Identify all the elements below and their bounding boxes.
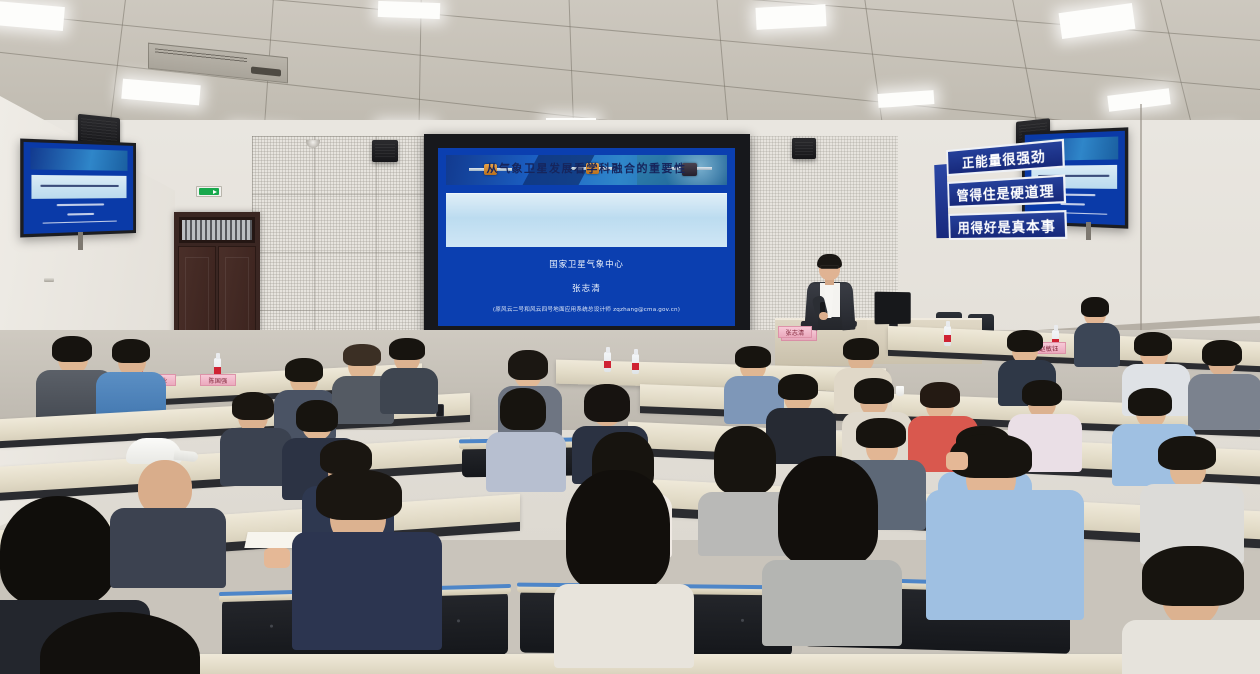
tv-slide-title-box bbox=[32, 175, 126, 199]
hair bbox=[1128, 388, 1172, 416]
banner-line-2: 管得住是硬道理 bbox=[947, 174, 1066, 208]
hair bbox=[856, 418, 906, 448]
torso bbox=[486, 432, 566, 492]
projection-screen: 从气象卫星发展看学科融合的重要性 国家卫星气象中心 张志清 (原风云二号和风云四… bbox=[424, 134, 750, 349]
slide-presenter-name: 张志清 bbox=[438, 282, 735, 294]
hair bbox=[1142, 546, 1244, 606]
hair bbox=[778, 456, 878, 566]
hair bbox=[714, 426, 776, 494]
ceiling-light bbox=[378, 1, 441, 19]
torso bbox=[926, 490, 1084, 620]
hair bbox=[52, 336, 92, 362]
hair bbox=[232, 392, 274, 420]
water-bottle[interactable] bbox=[632, 354, 639, 374]
hair bbox=[1158, 436, 1216, 470]
tv-left-screen bbox=[24, 142, 134, 234]
hair bbox=[320, 440, 372, 474]
desk-nameplate: 陈国强 bbox=[200, 374, 236, 386]
lecture-hall-photo: 正能量很强劲 管得住是硬道理 用得好是真本事 bbox=[0, 0, 1260, 674]
wall-tv-left[interactable] bbox=[20, 138, 136, 237]
hair bbox=[920, 382, 960, 408]
banner-line-1-text: 正能量很强劲 bbox=[962, 144, 1046, 171]
running-man-exit-icon bbox=[199, 188, 219, 195]
exit-sign bbox=[196, 186, 222, 197]
paper-cup[interactable] bbox=[896, 386, 904, 396]
hair bbox=[1081, 297, 1109, 317]
presenter-hand bbox=[819, 312, 828, 320]
desk-nameplate: 张志清 bbox=[778, 326, 812, 338]
torso bbox=[554, 584, 694, 668]
hair bbox=[1134, 332, 1172, 356]
hair bbox=[112, 339, 150, 363]
door-handle[interactable] bbox=[44, 278, 54, 282]
hair bbox=[1202, 340, 1242, 366]
hair bbox=[1022, 380, 1062, 406]
hair bbox=[0, 496, 116, 606]
torso bbox=[380, 368, 438, 414]
hair bbox=[1007, 330, 1043, 352]
banner-line-3: 用得好是真本事 bbox=[948, 210, 1067, 240]
hair bbox=[296, 400, 338, 432]
glasses-icon bbox=[820, 265, 839, 269]
hair bbox=[778, 374, 818, 400]
slide-credentials: (原风云二号和风云四号地面应用系统总设计师 zqzhang@cma.gov.cn… bbox=[438, 305, 735, 313]
wall-slogan-banner: 正能量很强劲 管得住是硬道理 用得好是真本事 bbox=[946, 139, 1068, 271]
torso bbox=[762, 560, 902, 646]
transom-grille bbox=[182, 220, 252, 240]
torso bbox=[292, 532, 442, 650]
torso bbox=[110, 508, 226, 588]
hand bbox=[946, 452, 968, 470]
hair bbox=[316, 470, 402, 520]
stage-monitor[interactable] bbox=[875, 292, 911, 325]
hair bbox=[566, 470, 670, 590]
hair bbox=[843, 338, 879, 360]
nameplate-text: 陈国强 bbox=[209, 376, 228, 385]
banner-line-3-text: 用得好是真本事 bbox=[957, 214, 1056, 236]
torso bbox=[1122, 620, 1260, 674]
hair bbox=[285, 358, 323, 382]
wall-speaker bbox=[792, 138, 816, 159]
hair bbox=[508, 350, 548, 380]
door-transom bbox=[179, 217, 255, 243]
water-bottle[interactable] bbox=[604, 352, 611, 372]
presenter bbox=[800, 256, 860, 334]
nameplate-text: 张志清 bbox=[786, 328, 805, 337]
tv-mount-bracket bbox=[78, 232, 83, 250]
hair bbox=[735, 346, 771, 368]
banner-line-2-text: 管得住是硬道理 bbox=[956, 179, 1055, 204]
presentation-slide: 从气象卫星发展看学科融合的重要性 国家卫星气象中心 张志清 (原风云二号和风云四… bbox=[438, 148, 735, 326]
slide-organization: 国家卫星气象中心 bbox=[438, 258, 735, 270]
ceiling-light bbox=[755, 4, 826, 30]
hand bbox=[264, 548, 290, 568]
water-bottle[interactable] bbox=[944, 326, 951, 346]
slide-title-box bbox=[446, 193, 727, 247]
torso bbox=[1188, 374, 1260, 430]
slide-title: 从气象卫星发展看学科融合的重要性 bbox=[438, 160, 735, 176]
hair bbox=[584, 384, 630, 422]
wall-speaker bbox=[372, 140, 398, 162]
tv-mount-bracket bbox=[1086, 222, 1091, 240]
baseball-cap bbox=[126, 438, 182, 464]
tv-slide-banner bbox=[31, 148, 127, 171]
hair bbox=[389, 338, 425, 360]
hair bbox=[854, 378, 894, 404]
hair bbox=[343, 344, 381, 366]
wall-corner-line bbox=[1140, 104, 1142, 344]
hair bbox=[500, 388, 546, 430]
torso bbox=[1074, 323, 1120, 367]
